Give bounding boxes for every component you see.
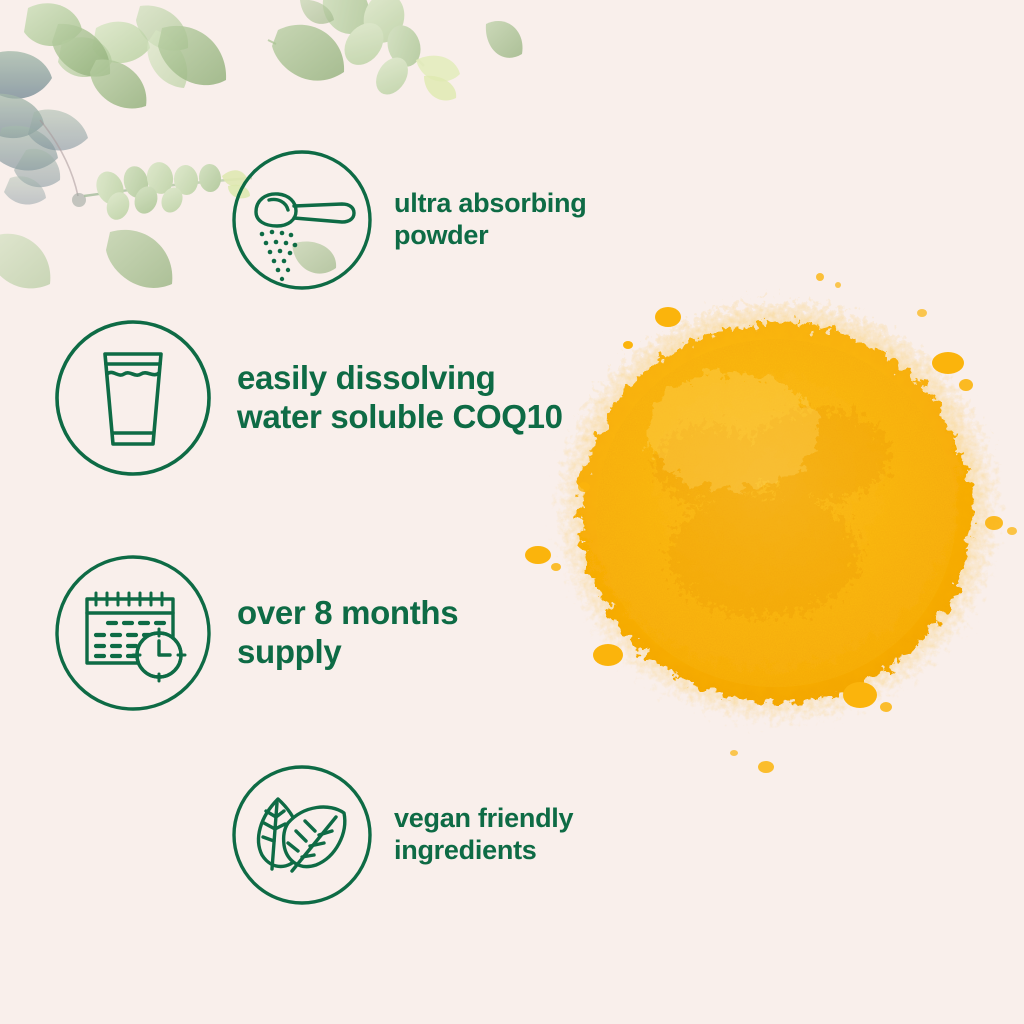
water-glass-icon — [55, 320, 211, 476]
feature-item-water-soluble: easily dissolving water soluble COQ10 — [55, 320, 563, 476]
feature-label: vegan friendly ingredients — [394, 803, 573, 866]
spoon-powder-icon — [232, 150, 372, 290]
feature-item-vegan-friendly: vegan friendly ingredients — [232, 765, 573, 905]
feature-label: ultra absorbing powder — [394, 188, 586, 251]
coq10-powder-pile — [520, 255, 1024, 795]
product-feature-infographic: ultra absorbing powder easily dissolving… — [0, 0, 1024, 1024]
leaves-icon — [232, 765, 372, 905]
feature-label: over 8 months supply — [237, 594, 458, 671]
feature-item-ultra-absorbing-powder: ultra absorbing powder — [232, 150, 586, 290]
feature-label: easily dissolving water soluble COQ10 — [237, 359, 563, 436]
calendar-clock-icon — [55, 555, 211, 711]
feature-item-months-supply: over 8 months supply — [55, 555, 458, 711]
